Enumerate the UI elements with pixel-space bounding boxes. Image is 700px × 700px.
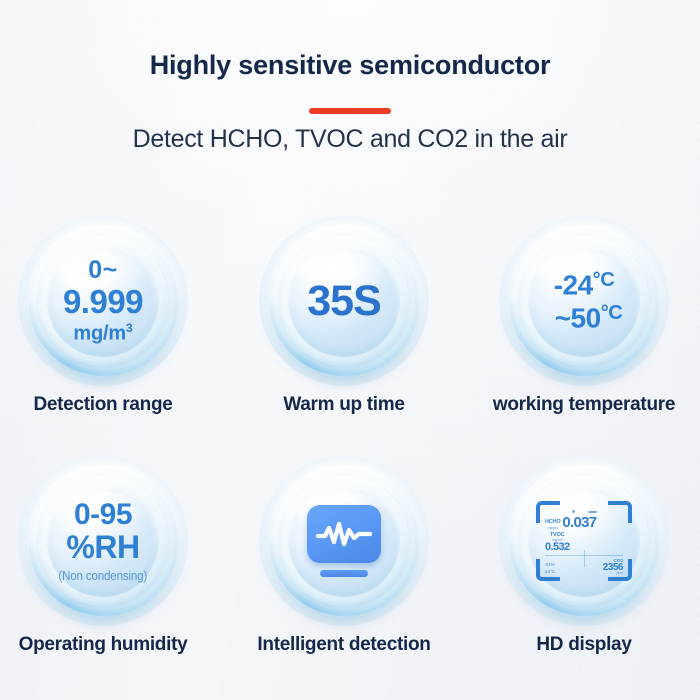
hcho-label-group: HCHO mg/m3 xyxy=(545,519,560,529)
tvoc-label-group: TVOC mg/m3 0.532 xyxy=(545,532,570,553)
temp-high: ~50 xyxy=(555,302,601,333)
feature-grid: 0~ 9.999 mg/m3 Detection range xyxy=(0,225,700,700)
co2-unit: ppm xyxy=(603,572,623,576)
waveform-monitor-icon xyxy=(307,505,381,577)
feature-hd-display: HCHO mg/m3 0.037 TVOC mg/m3 0 xyxy=(474,465,694,656)
value-line-1: 0~ xyxy=(63,258,143,283)
value-line-1: 0-95 xyxy=(55,500,150,530)
feature-intelligent-detection: Intelligent detection xyxy=(234,465,454,656)
value-line-2: 9.999 xyxy=(63,285,143,318)
feature-row-top: 0~ 9.999 mg/m3 Detection range xyxy=(0,225,700,465)
readout-status-bar xyxy=(545,508,623,515)
feature-caption: HD display xyxy=(474,634,694,656)
feature-working-temperature: -24°C ~50°C working temperature xyxy=(474,225,694,416)
feature-disc: 35S xyxy=(268,225,420,377)
value-note: (Non condensing) xyxy=(59,570,148,583)
unit-text: mg/m xyxy=(73,323,126,345)
feature-caption: Detection range xyxy=(0,394,213,416)
status-dot-icon xyxy=(572,510,575,513)
detection-range-value: 0~ 9.999 mg/m3 xyxy=(63,258,143,344)
readout-vertical-divider xyxy=(584,550,585,567)
feature-caption: working temperature xyxy=(474,394,694,416)
feature-caption: Intelligent detection xyxy=(234,634,454,656)
disc-face xyxy=(288,485,400,597)
value-line-2: ~50°C xyxy=(555,303,623,332)
degree-unit-2: °C xyxy=(601,302,623,324)
disc-face: 0-95 %RH (Non condensing) xyxy=(47,485,159,597)
feature-disc xyxy=(268,465,420,617)
hcho-value: 0.037 xyxy=(562,517,596,530)
monitor-stand xyxy=(320,570,368,577)
disc-face: -24°C ~50°C xyxy=(528,245,640,357)
feature-warm-up-time: 35S Warm up time xyxy=(234,225,454,416)
env-readings: 61% 24°C xyxy=(545,562,555,576)
value-line-1: 35S xyxy=(307,280,381,323)
value-line-3: mg/m3 xyxy=(63,322,143,344)
hcho-unit: mg/m3 xyxy=(545,526,560,530)
feature-detection-range: 0~ 9.999 mg/m3 Detection range xyxy=(0,225,213,416)
feature-caption: Warm up time xyxy=(234,394,454,416)
disc-face: 0~ 9.999 mg/m3 xyxy=(47,245,159,357)
device-readout: HCHO mg/m3 0.037 TVOC mg/m3 0 xyxy=(545,508,623,574)
feature-row-bottom: 0-95 %RH (Non condensing) Operating humi… xyxy=(0,465,700,700)
value-line-1: -24°C xyxy=(546,270,623,299)
disc-face: HCHO mg/m3 0.037 TVOC mg/m3 0 xyxy=(528,485,640,597)
page-title: Highly sensitive semiconductor xyxy=(0,50,700,81)
hcho-row: HCHO mg/m3 0.037 xyxy=(545,517,623,530)
battery-icon xyxy=(588,511,597,513)
working-temperature-value: -24°C ~50°C xyxy=(546,270,623,332)
humidity-reading: 61% xyxy=(545,562,555,569)
operating-humidity-value: 0-95 %RH (Non condensing) xyxy=(55,500,150,583)
temperature-reading: 24°C xyxy=(545,569,555,576)
tvoc-unit: mg/m3 xyxy=(545,538,570,542)
feature-caption: Operating humidity xyxy=(0,634,213,656)
temp-low: -24 xyxy=(554,270,593,301)
warm-up-time-value: 35S xyxy=(307,280,381,323)
feature-disc: HCHO mg/m3 0.037 TVOC mg/m3 0 xyxy=(508,465,660,617)
feature-disc: -24°C ~50°C xyxy=(508,225,660,377)
waveform-icon xyxy=(316,521,372,547)
header: Highly sensitive semiconductor Detect HC… xyxy=(0,0,700,154)
disc-face: 35S xyxy=(288,245,400,357)
accent-rule xyxy=(309,108,391,114)
title-divider xyxy=(0,101,700,108)
monitor-screen xyxy=(307,505,381,563)
tvoc-value: 0.532 xyxy=(545,543,570,553)
infographic-page: Highly sensitive semiconductor Detect HC… xyxy=(0,0,700,700)
feature-disc: 0~ 9.999 mg/m3 xyxy=(27,225,179,377)
feature-operating-humidity: 0-95 %RH (Non condensing) Operating humi… xyxy=(0,465,213,656)
unit-superscript: 3 xyxy=(126,321,133,335)
value-line-2: %RH xyxy=(55,531,150,563)
degree-unit-1: °C xyxy=(593,269,615,291)
page-subtitle: Detect HCHO, TVOC and CO2 in the air xyxy=(0,125,700,154)
device-screen-icon: HCHO mg/m3 0.037 TVOC mg/m3 0 xyxy=(536,501,632,581)
feature-disc: 0-95 %RH (Non condensing) xyxy=(27,465,179,617)
co2-readings: CO2 2356 ppm xyxy=(603,558,623,576)
